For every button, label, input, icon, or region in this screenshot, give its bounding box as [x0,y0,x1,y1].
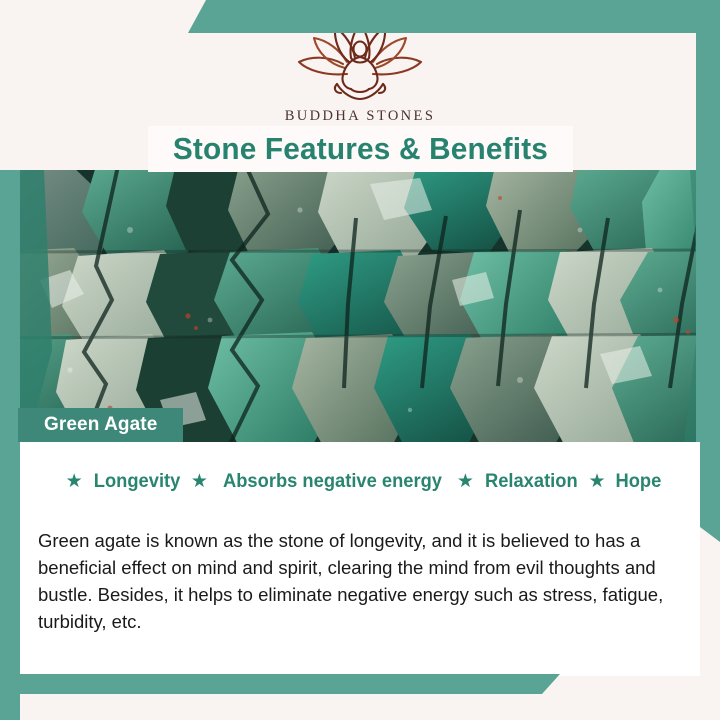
benefit-longevity: Longevity [93,470,180,493]
footer-strip [0,694,720,720]
star-icon: ★ [66,472,83,491]
benefit-relaxation: Relaxation [485,470,578,493]
green-agate-photo-illustration [0,170,720,442]
page-title: Stone Features & Benefits [173,131,548,167]
brand-name: BUDDHA STONES [0,108,720,125]
decorative-bottom-bar [0,674,560,694]
decorative-top-bar [188,0,720,33]
stone-description: Green agate is known as the stone of lon… [38,527,686,635]
benefit-absorbs-negative-energy: Absorbs negative energy [223,470,442,493]
stone-info-card: BUDDHA STONES Stone Features & Benefits [0,0,720,720]
benefit-hope: Hope [615,470,661,493]
photo-caption-banner: Green Agate [18,408,183,442]
stone-name: Green Agate [44,414,157,436]
page-title-plate: Stone Features & Benefits [148,126,573,172]
star-icon: ★ [191,472,208,491]
content-panel: ★ Longevity ★ Absorbs negative energy ★ … [20,442,700,676]
star-icon: ★ [457,472,474,491]
stone-photo [0,170,720,442]
star-icon: ★ [589,472,606,491]
decorative-left-bar [0,170,20,720]
benefits-list: ★ Longevity ★ Absorbs negative energy ★ … [40,470,680,493]
brand-logo: BUDDHA STONES [0,18,720,125]
